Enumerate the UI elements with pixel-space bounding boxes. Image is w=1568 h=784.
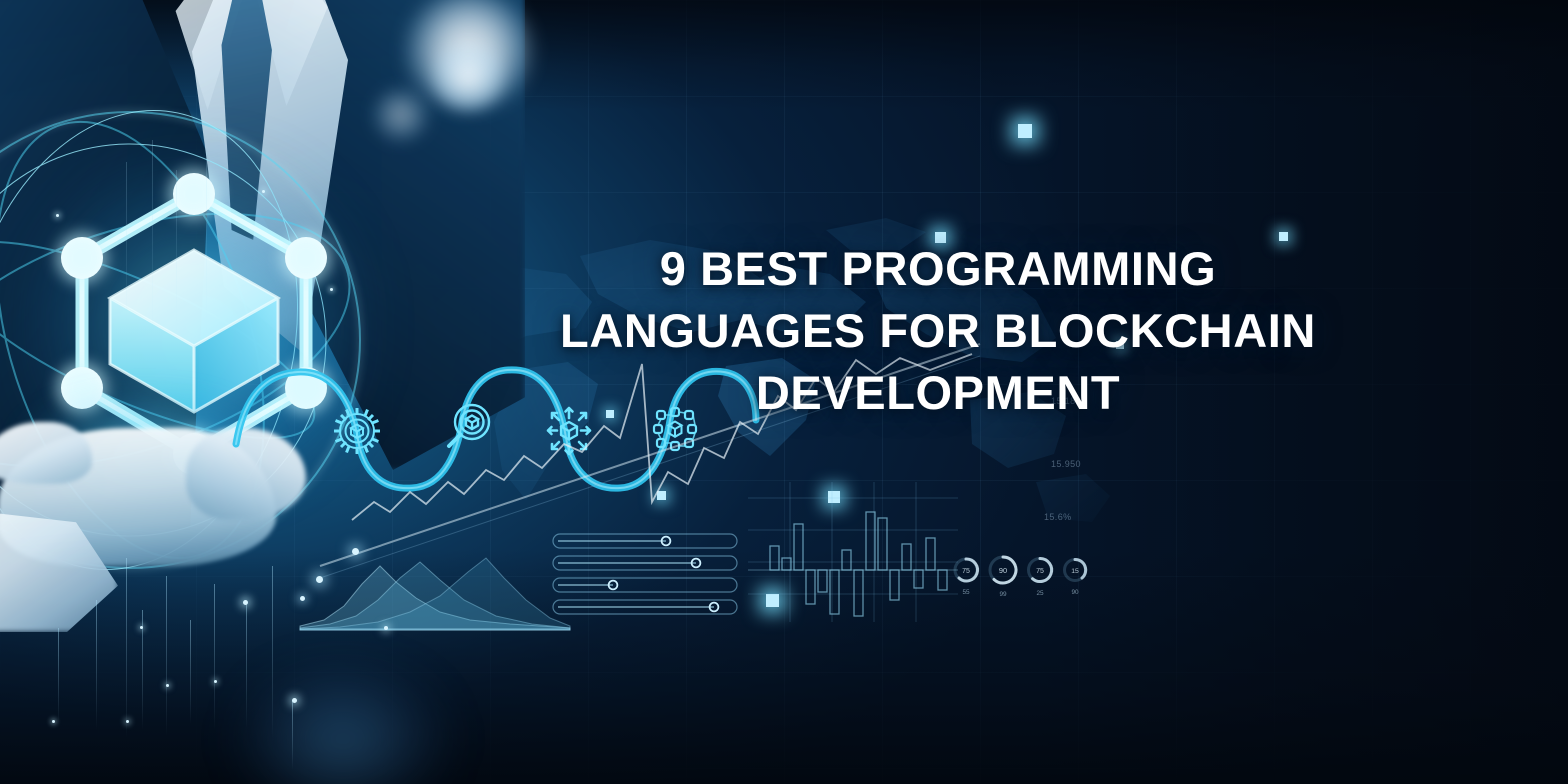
page-title: 9 BEST PROGRAMMING LANGUAGES FOR BLOCKCH…	[498, 238, 1378, 424]
gauge-label: 90	[1071, 589, 1079, 596]
title-line-1: 9 BEST PROGRAMMING	[498, 238, 1378, 300]
title-line-3: DEVELOPMENT	[498, 362, 1378, 424]
blockchain-banner: 75 55 90 99 75 25 15	[0, 0, 1568, 784]
gauge-label: 55	[962, 589, 970, 596]
gauge-value: 75	[962, 568, 970, 575]
thumb	[0, 422, 92, 484]
gauge-label: 25	[1036, 590, 1044, 597]
gauge-value: 15	[1071, 568, 1079, 575]
gauge-label: 99	[999, 591, 1007, 598]
bar-chart	[748, 482, 958, 622]
title-line-2: LANGUAGES FOR BLOCKCHAIN	[498, 300, 1378, 362]
gauge-group: 75 55 90 99 75 25 15	[952, 552, 1092, 604]
slider-group[interactable]	[552, 532, 738, 624]
gauge-value: 90	[999, 566, 1007, 575]
hud-value-label: 15.6%	[1044, 512, 1072, 522]
hud-value-label: 15.950	[1051, 459, 1081, 469]
gauge-value: 75	[1036, 568, 1044, 575]
area-chart	[300, 540, 570, 630]
